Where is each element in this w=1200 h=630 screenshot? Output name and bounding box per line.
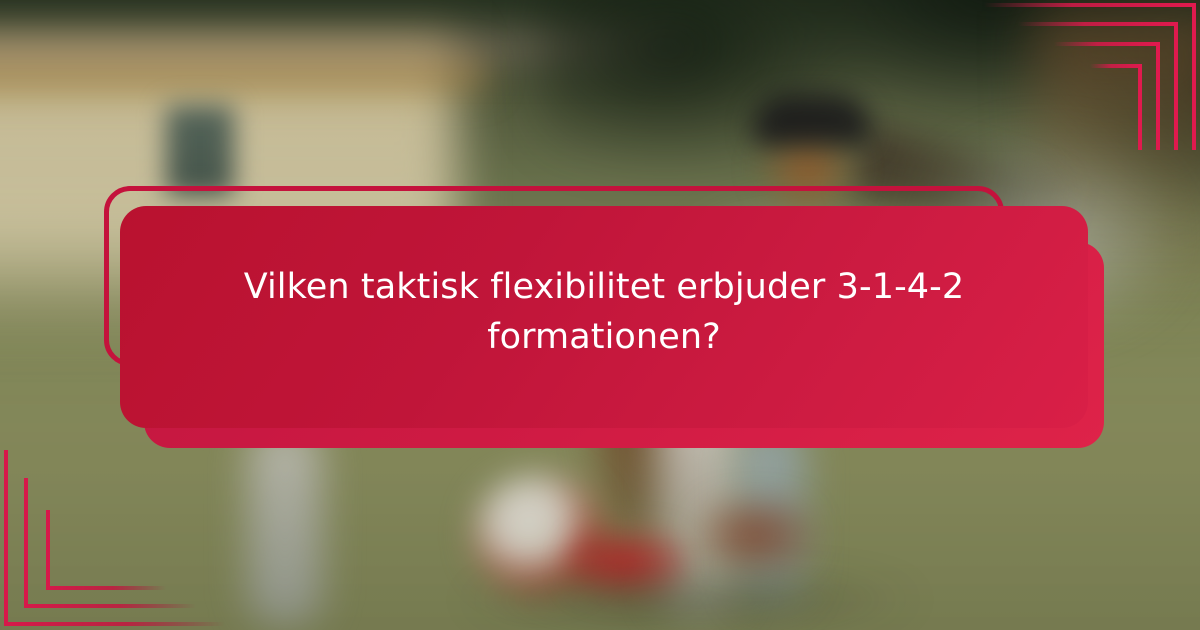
quiz-card-canvas: Vilken taktisk flexibilitet erbjuder 3-1… <box>0 0 1200 630</box>
question-text: Vilken taktisk flexibilitet erbjuder 3-1… <box>184 263 1024 362</box>
question-card: Vilken taktisk flexibilitet erbjuder 3-1… <box>104 186 1104 448</box>
card-body: Vilken taktisk flexibilitet erbjuder 3-1… <box>120 206 1088 428</box>
